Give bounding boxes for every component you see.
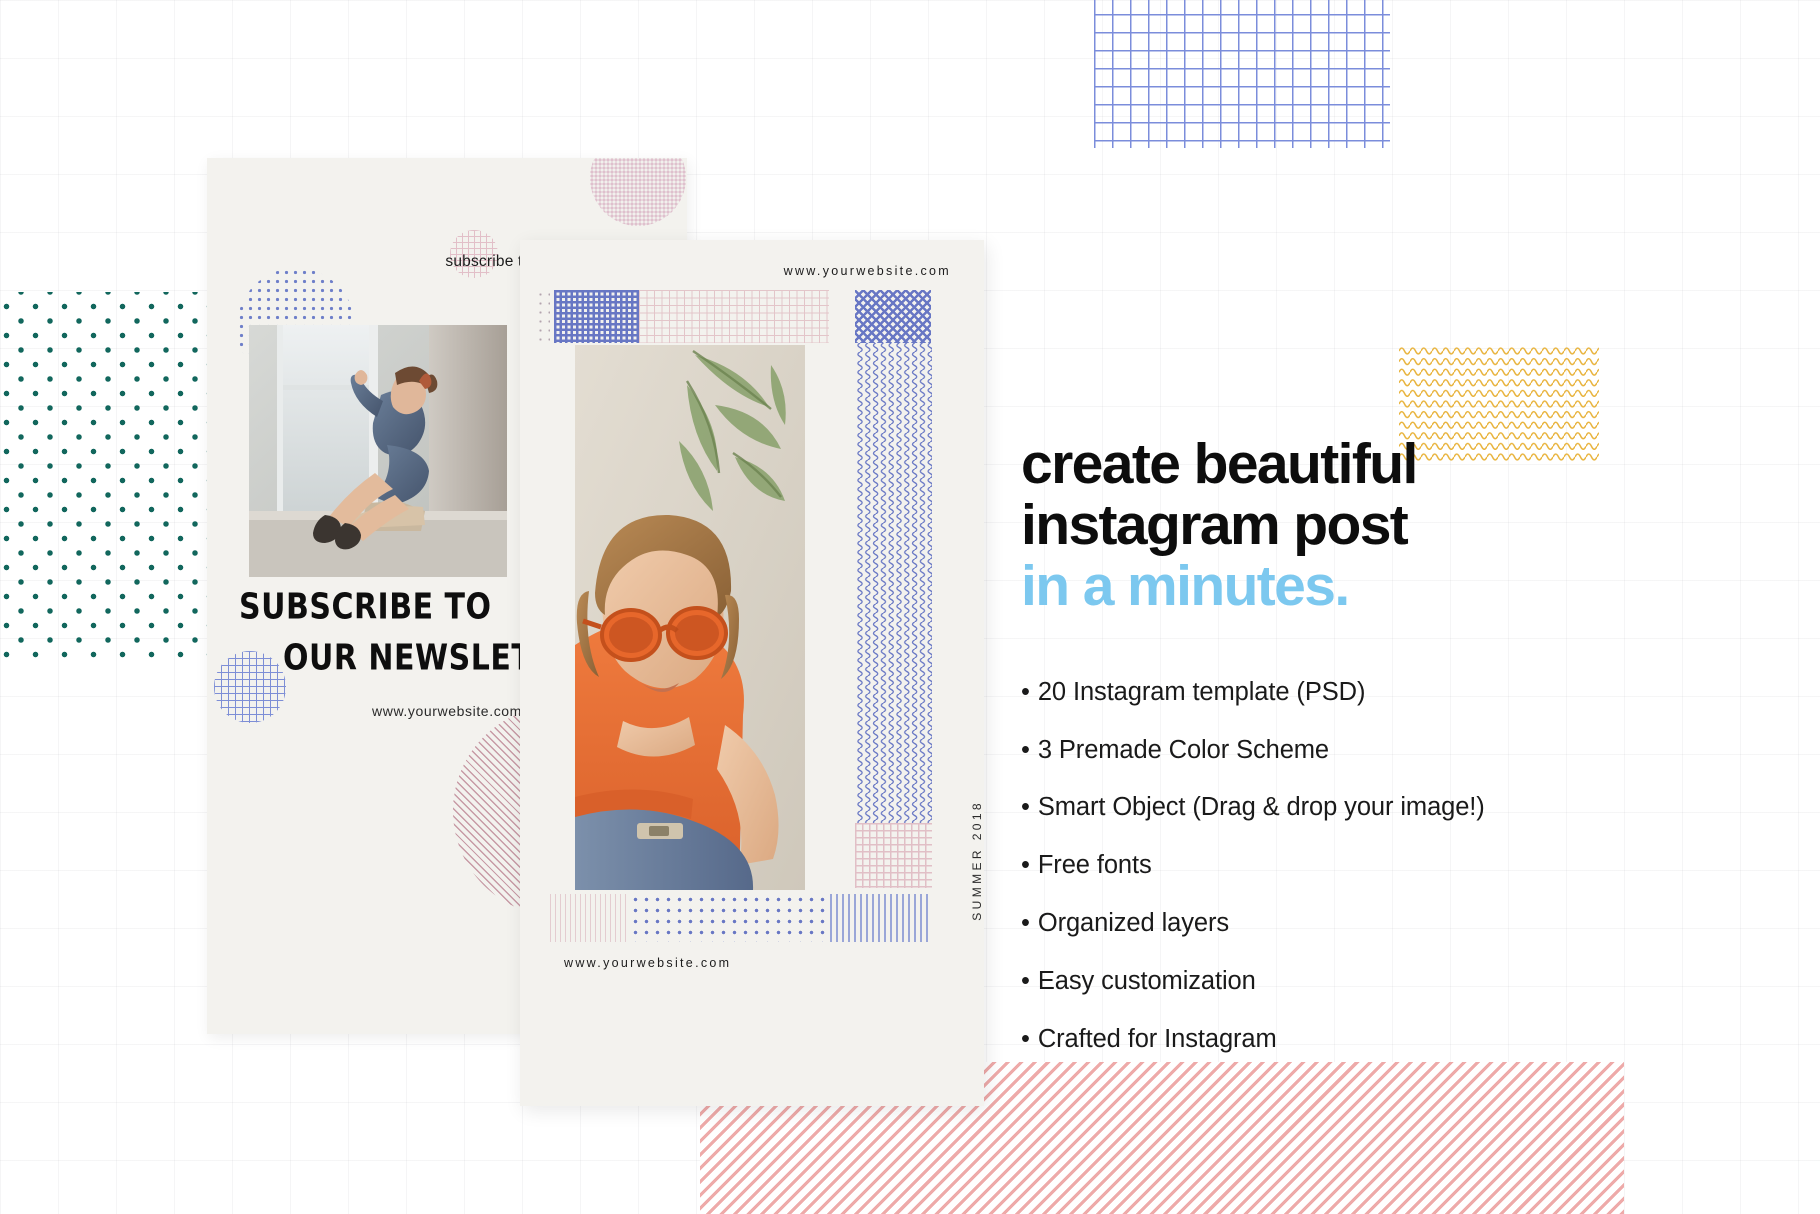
bullet-icon: • — [1021, 909, 1030, 937]
list-item: •Crafted for Instagram — [1021, 1026, 1721, 1053]
bullet-icon: • — [1021, 736, 1030, 764]
blue-vertical-wave-svg — [855, 343, 932, 823]
teal-dots-pattern-left — [0, 292, 214, 664]
headline-line-1: create beautiful — [1021, 434, 1721, 495]
promo-copy: create beautiful instagram post in a min… — [1021, 434, 1721, 1083]
pink-grid-strip-decoration — [855, 823, 932, 888]
blue-grid-pattern-topright — [1094, 0, 1390, 148]
list-item: •Smart Object (Drag & drop your image!) — [1021, 794, 1721, 821]
blue-vertical-wave-decoration — [855, 343, 932, 823]
newsletter-photo — [249, 325, 507, 577]
summer-season-label: SUMMER 2018 — [970, 800, 984, 921]
feature-label: 20 Instagram template (PSD) — [1038, 678, 1366, 706]
card-summer[interactable]: www.yourwebsite.com — [520, 240, 984, 1106]
feature-label: Crafted for Instagram — [1038, 1025, 1277, 1053]
feature-label: Free fonts — [1038, 851, 1152, 879]
bullet-icon: • — [1021, 678, 1030, 706]
bullet-icon: • — [1021, 967, 1030, 995]
blue-dots-strip-decoration — [630, 894, 830, 942]
small-dot-strip-decoration — [536, 290, 550, 343]
headline-line-3: in a minutes. — [1021, 556, 1721, 617]
headline-line-2: instagram post — [1021, 495, 1721, 556]
list-item: •3 Premade Color Scheme — [1021, 737, 1721, 764]
summer-website-bottom[interactable]: www.yourwebsite.com — [564, 956, 731, 970]
summer-photo — [575, 345, 805, 890]
feature-list: •20 Instagram template (PSD) •3 Premade … — [1021, 679, 1721, 1052]
photo-woman-sunglasses — [575, 345, 805, 890]
poster-canvas: subscribe to our newsletter and Get Disc… — [0, 0, 1820, 1214]
feature-label: Organized layers — [1038, 909, 1229, 937]
bullet-icon: • — [1021, 793, 1030, 821]
blue-dense-grid-decoration — [554, 290, 639, 343]
blue-vertical-stripe-decoration — [830, 894, 930, 942]
list-item: •20 Instagram template (PSD) — [1021, 679, 1721, 706]
promo-headline: create beautiful instagram post in a min… — [1021, 434, 1721, 617]
pink-dot-circle-decoration — [590, 158, 686, 226]
feature-label: Smart Object (Drag & drop your image!) — [1038, 793, 1485, 821]
pink-fine-grid-decoration — [639, 290, 829, 343]
pink-vertical-line-decoration — [550, 894, 630, 942]
list-item: •Free fonts — [1021, 852, 1721, 879]
list-item: •Organized layers — [1021, 910, 1721, 937]
list-item: •Easy customization — [1021, 968, 1721, 995]
blue-diagonal-check-decoration — [855, 290, 931, 343]
summer-website-top[interactable]: www.yourwebsite.com — [784, 264, 951, 278]
photo-woman-window — [249, 325, 507, 577]
bullet-icon: • — [1021, 1025, 1030, 1053]
feature-label: 3 Premade Color Scheme — [1038, 736, 1329, 764]
bullet-icon: • — [1021, 851, 1030, 879]
feature-label: Easy customization — [1038, 967, 1256, 995]
